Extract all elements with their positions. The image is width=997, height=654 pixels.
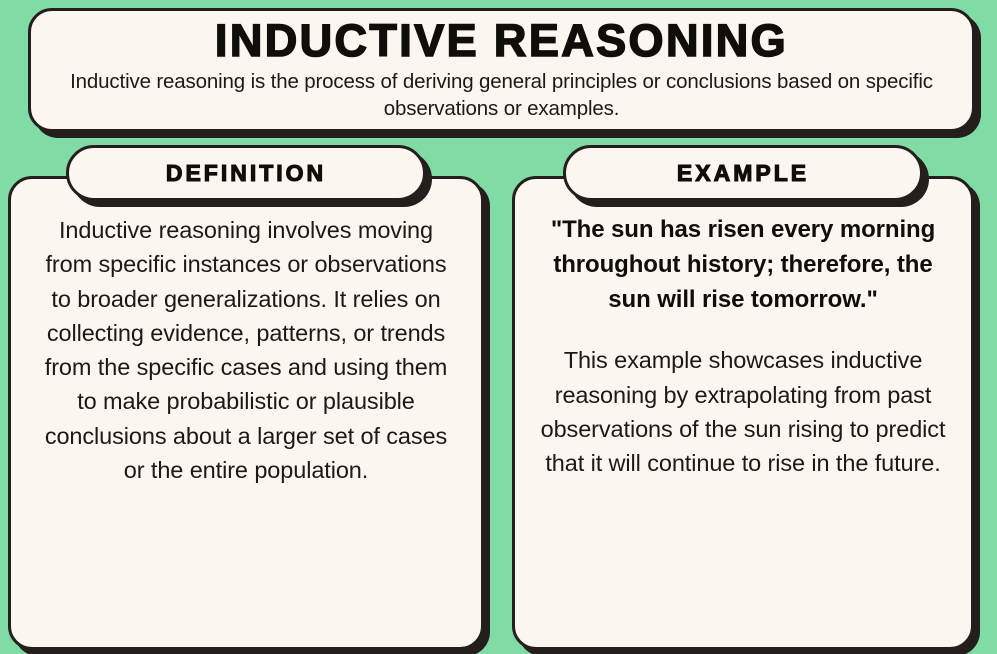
infographic-poster: INDUCTIVE REASONING Inductive reasoning … [0, 0, 997, 654]
header-banner-card: INDUCTIVE REASONING Inductive reasoning … [28, 8, 975, 132]
example-column-card: "The sun has risen every morning through… [512, 176, 974, 650]
tab-definition-label: DEFINITION [166, 160, 326, 187]
definition-column-card: Inductive reasoning involves moving from… [8, 176, 484, 650]
definition-body-text: Inductive reasoning involves moving from… [33, 213, 459, 487]
tab-definition: DEFINITION [66, 145, 426, 201]
example-body-text: This example showcases inductive reasoni… [537, 343, 949, 480]
example-quote-text: "The sun has risen every morning through… [537, 213, 949, 317]
tab-example: EXAMPLE [563, 145, 923, 201]
page-subtitle: Inductive reasoning is the process of de… [57, 68, 946, 123]
tab-example-label: EXAMPLE [677, 160, 809, 187]
page-title: INDUCTIVE REASONING [215, 17, 788, 65]
